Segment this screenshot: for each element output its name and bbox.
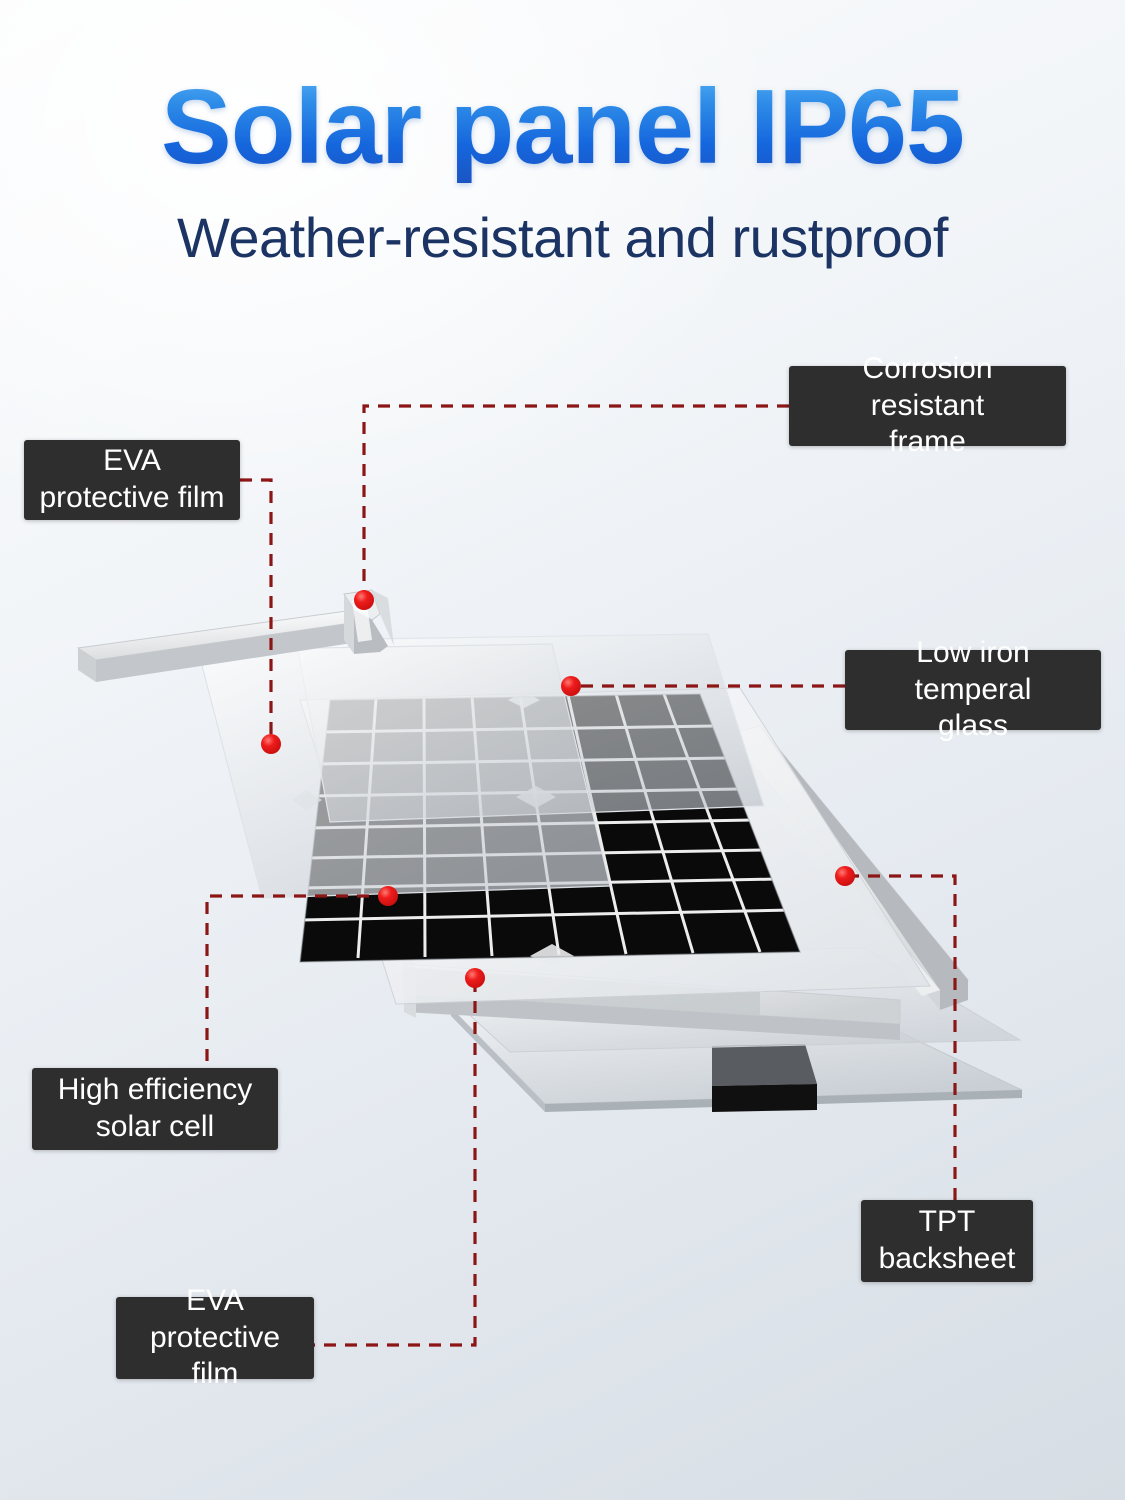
callout-low-iron-temperal-glass[interactable]: Low iron temperal glass: [845, 650, 1101, 730]
marker-eva-bottom: [465, 968, 485, 988]
eva-film-top-layer: [198, 644, 610, 898]
leader-eva-bottom: [314, 980, 475, 1345]
marker-corrosion-frame: [354, 590, 374, 610]
callout-tpt-backsheet[interactable]: TPT backsheet: [861, 1200, 1033, 1282]
marker-glass: [561, 676, 581, 696]
callout-high-efficiency-solar-cell[interactable]: High efficiency solar cell: [32, 1068, 278, 1150]
callout-corrosion-resistant-frame[interactable]: Corrosion resistant frame: [789, 366, 1066, 446]
leader-corrosion-frame: [364, 406, 789, 598]
junction-box: [712, 1044, 817, 1086]
marker-eva-top: [261, 734, 281, 754]
marker-tpt: [835, 866, 855, 886]
marker-solar-cell: [378, 886, 398, 906]
callout-eva-protective-film-bottom[interactable]: EVA protective film: [116, 1297, 314, 1379]
callout-eva-protective-film-top[interactable]: EVA protective film: [24, 440, 240, 520]
